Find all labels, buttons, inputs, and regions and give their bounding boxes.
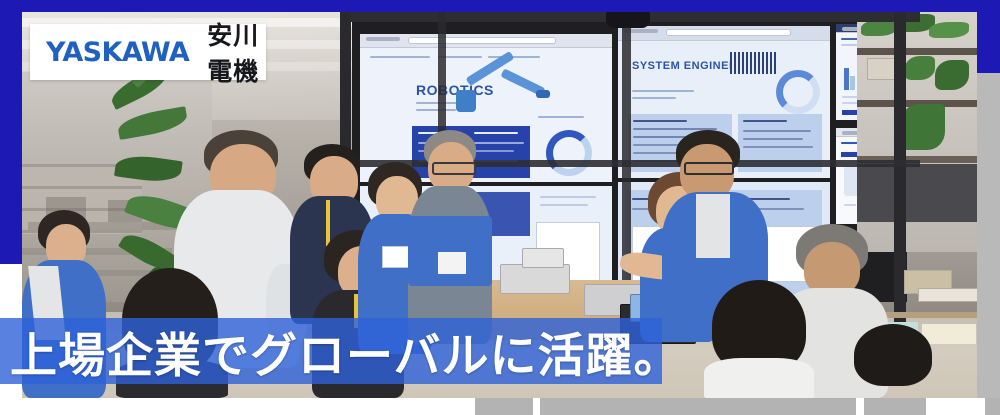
equipment-box [522, 248, 564, 268]
table-edge-right [882, 312, 977, 318]
shelf-greenery-right [857, 12, 977, 252]
person-foreground-right [704, 280, 814, 398]
yaskawa-logo[interactable]: YASKAWA 安川電機 [30, 24, 266, 80]
frame-right-gray-strip [977, 73, 1000, 398]
donut-chart [776, 70, 820, 114]
frame-top-border [0, 0, 1000, 12]
eyeglasses [684, 162, 734, 175]
qr-code [730, 52, 776, 74]
donut-chart [546, 130, 592, 176]
person-far-right [848, 324, 938, 398]
equipment-box [500, 264, 570, 294]
logo-japanese-wordmark: 安川電機 [207, 16, 266, 88]
rig-post [894, 12, 906, 372]
notepad [438, 252, 466, 274]
placeholder-block-2 [540, 398, 856, 415]
eyeglasses [432, 162, 476, 175]
robot-arm-tool [536, 90, 550, 98]
screen-robotics-title: ROBOTICS [416, 82, 494, 98]
placeholder-block-4 [985, 398, 1000, 415]
browser-chrome [618, 26, 830, 41]
ceiling-camera [606, 12, 650, 28]
logo-english-wordmark: YASKAWA [46, 37, 189, 68]
frame-left-border [0, 0, 22, 264]
hero-banner: ROBOTICS [0, 0, 1000, 415]
paper-stack [918, 288, 977, 302]
placeholder-block-1 [475, 398, 533, 415]
frame-right-border [977, 0, 1000, 73]
robot-arm-base [456, 90, 476, 112]
person-center-supervisor [408, 130, 492, 344]
placeholder-block-3 [864, 398, 926, 415]
headline-text: 上場企業でグローバルに活躍。 [10, 318, 670, 384]
name-badge [382, 246, 410, 268]
browser-chrome [360, 34, 612, 48]
